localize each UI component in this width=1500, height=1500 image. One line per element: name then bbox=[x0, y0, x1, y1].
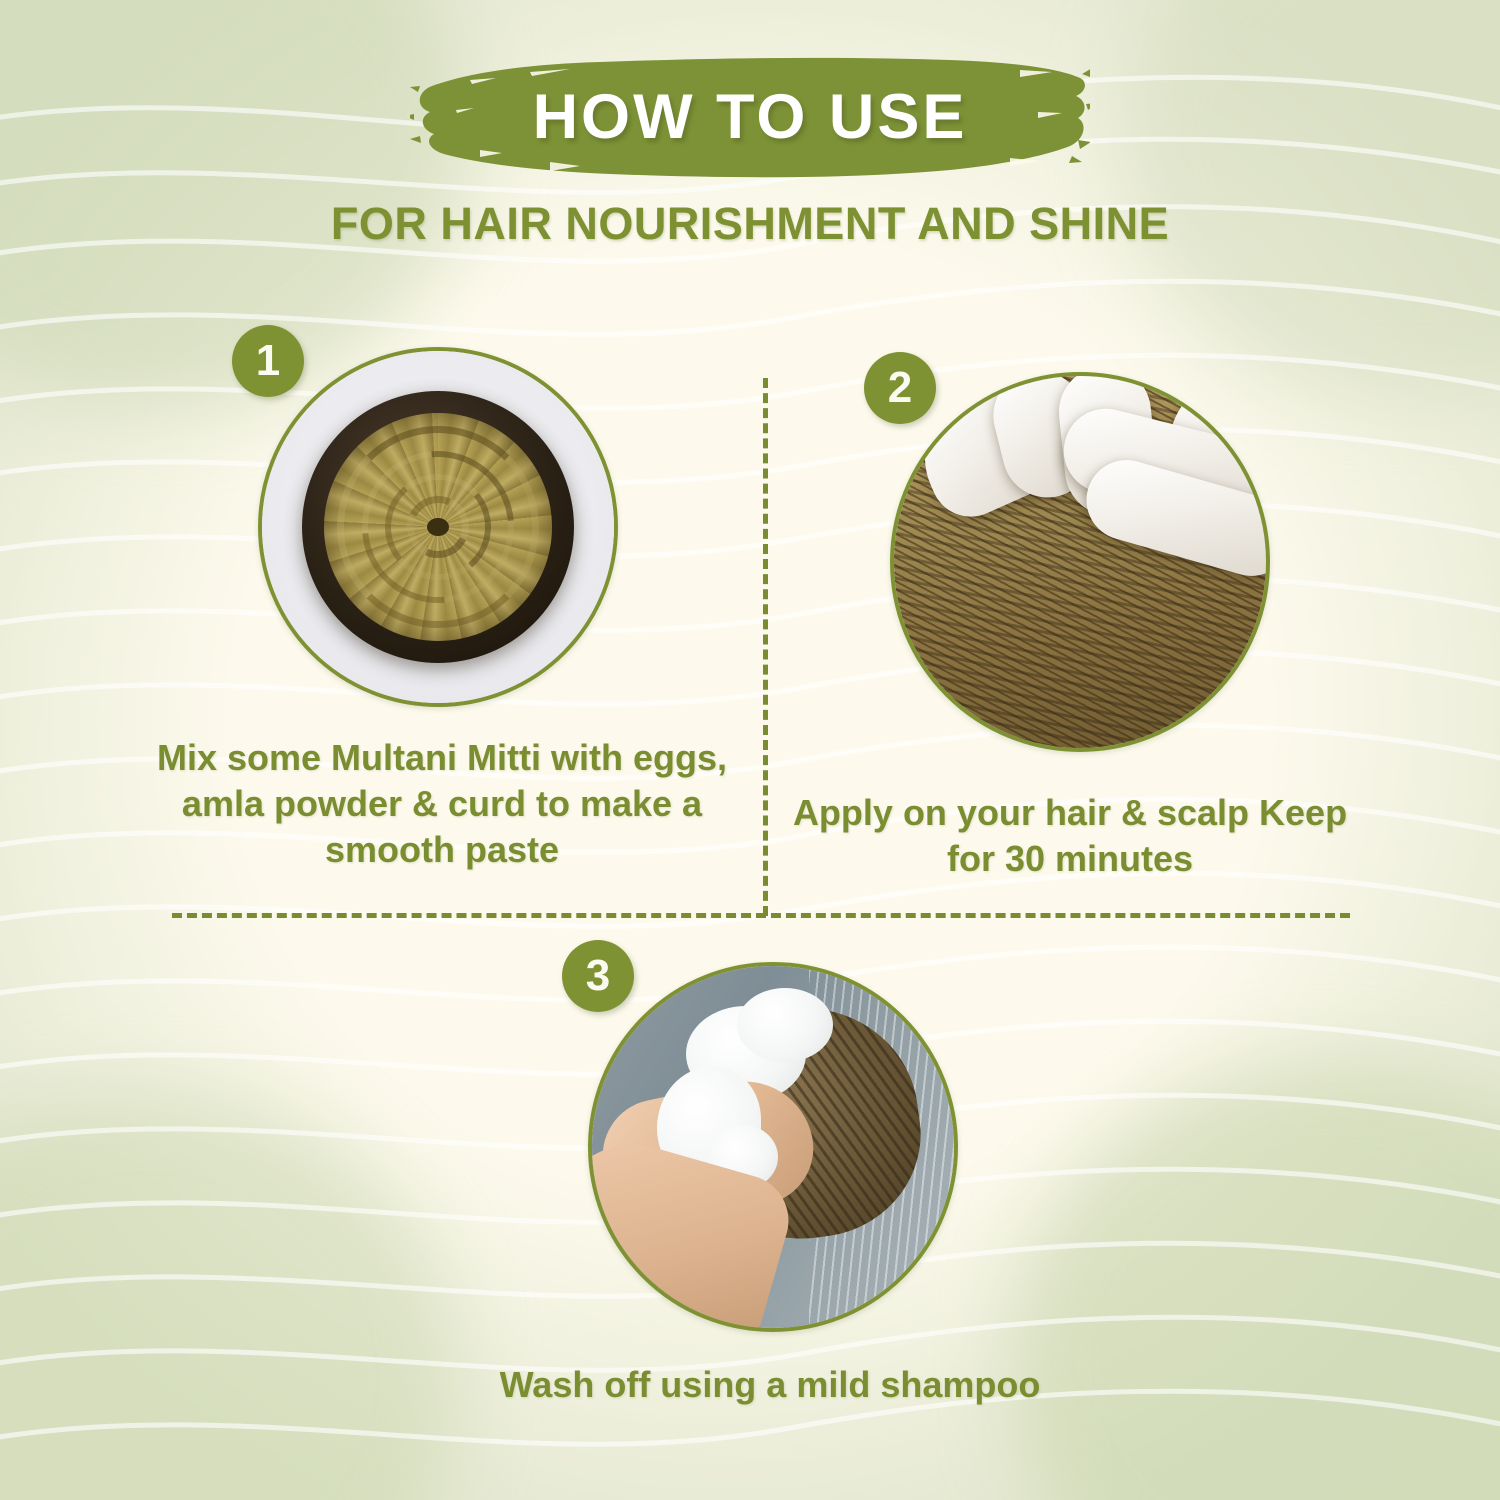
how-to-use-infographic: HOW TO USE FOR HAIR NOURISHMENT AND SHIN… bbox=[0, 0, 1500, 1500]
step-2-number-badge: 2 bbox=[864, 352, 936, 424]
page-subtitle: FOR HAIR NOURISHMENT AND SHINE bbox=[0, 198, 1500, 250]
step-2-image bbox=[890, 372, 1270, 752]
step-3-image bbox=[588, 962, 958, 1332]
paste-surface bbox=[324, 413, 552, 641]
woman-washing-hair-illustration bbox=[592, 966, 954, 1328]
gloved-hands-applying-paste-illustration bbox=[894, 376, 1266, 748]
shampoo-foam-2 bbox=[737, 988, 833, 1062]
step-3-number-badge: 3 bbox=[562, 940, 634, 1012]
page-title: HOW TO USE bbox=[410, 52, 1090, 182]
step-2-caption: Apply on your hair & scalp Keep for 30 m… bbox=[790, 790, 1350, 882]
step-3: 3 Wash off using a mild shampoo bbox=[490, 940, 1050, 1408]
step-3-caption: Wash off using a mild shampoo bbox=[490, 1362, 1050, 1408]
horizontal-dashed-divider bbox=[172, 913, 1350, 918]
step-1-image bbox=[258, 347, 618, 707]
step-1: 1 Mix some Multani Mitti with eggs, amla… bbox=[132, 325, 752, 873]
corner-watercolor-bottom-right bbox=[1010, 1060, 1500, 1500]
vertical-dashed-divider bbox=[763, 378, 768, 916]
step-1-number-badge: 1 bbox=[232, 325, 304, 397]
step-1-caption: Mix some Multani Mitti with eggs, amla p… bbox=[132, 735, 752, 873]
title-brush-banner: HOW TO USE bbox=[410, 52, 1090, 182]
corner-watercolor-bottom-left bbox=[0, 1090, 460, 1500]
step-2: 2 Apply on your hair & scalp Keep for 30… bbox=[790, 352, 1350, 882]
bowl-of-multani-mitti-paste-illustration bbox=[262, 351, 614, 703]
header: HOW TO USE FOR HAIR NOURISHMENT AND SHIN… bbox=[0, 0, 1500, 250]
bowl-icon bbox=[302, 391, 574, 663]
paste-swirl-center bbox=[427, 518, 449, 536]
